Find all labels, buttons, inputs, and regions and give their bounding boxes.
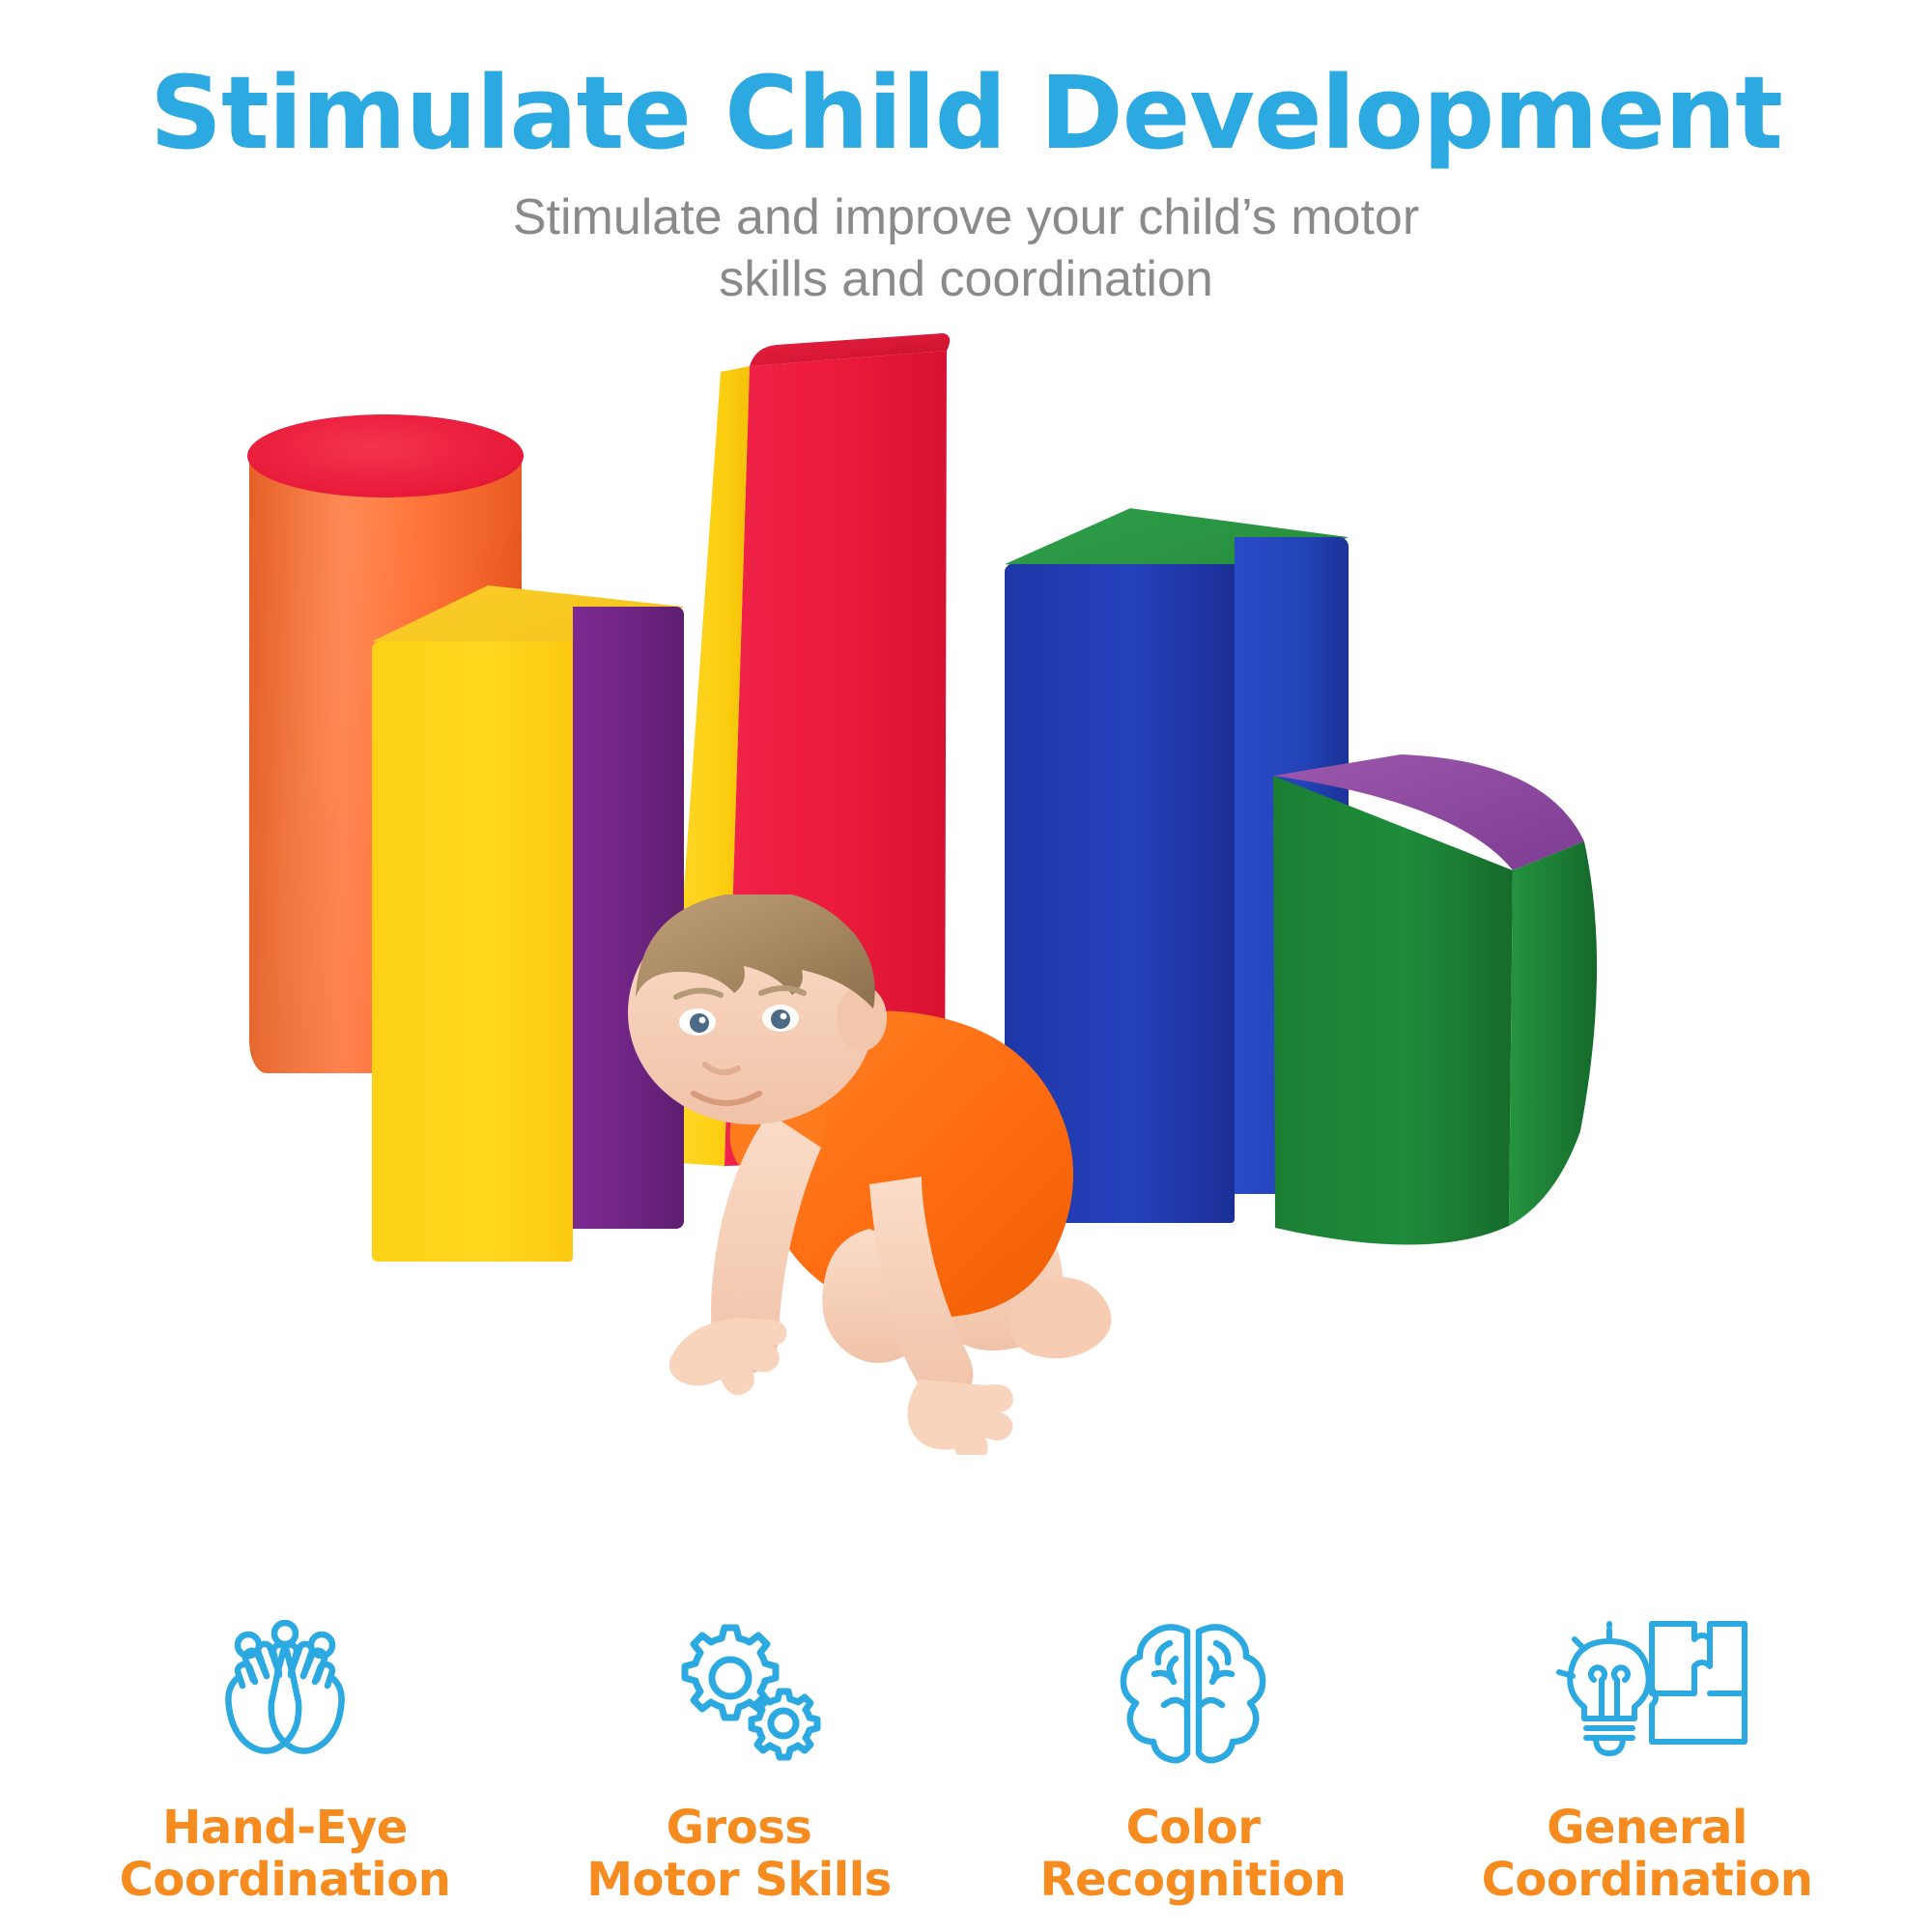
feature-item-hand-eye: Hand-Eye Coordination [58, 1620, 512, 1907]
clapping-hands-with-balls-icon [193, 1620, 377, 1765]
feature-label-general-coordination: General Coordination [1482, 1802, 1813, 1907]
feature-label-line-1: Gross [586, 1802, 891, 1855]
feature-label-line-1: General [1482, 1802, 1813, 1855]
subtitle-line-2: skills and coordination [396, 249, 1536, 310]
header: Stimulate Child Development Stimulate an… [0, 0, 1932, 310]
feature-list: Hand-Eye Coordination [0, 1620, 1932, 1907]
brain-icon [1116, 1620, 1270, 1765]
lightbulb-puzzle-icon [1546, 1620, 1748, 1765]
feature-label-gross-motor: Gross Motor Skills [586, 1802, 891, 1907]
feature-item-gross-motor: Gross Motor Skills [512, 1620, 966, 1907]
feature-label-line-2: Coordination [120, 1854, 451, 1907]
page-title: Stimulate Child Development [0, 60, 1932, 166]
crawling-baby-photo [580, 895, 1198, 1455]
page-subtitle: Stimulate and improve your child’s motor… [396, 187, 1536, 310]
feature-label-hand-eye: Hand-Eye Coordination [120, 1802, 451, 1907]
gears-icon [647, 1620, 831, 1765]
feature-label-line-2: Motor Skills [586, 1854, 891, 1907]
product-feature-banner: Stimulate Child Development Stimulate an… [0, 0, 1932, 1932]
yellow-block-front [372, 641, 573, 1262]
feature-label-line-2: Recognition [1040, 1854, 1347, 1907]
product-photo: Hand-Eye Coordination [0, 320, 1932, 1932]
feature-label-line-1: Color [1040, 1802, 1347, 1855]
subtitle-line-1: Stimulate and improve your child’s motor [396, 187, 1536, 248]
feature-item-color-recognition: Color Recognition [966, 1620, 1420, 1907]
feature-item-general-coordination: General Coordination [1420, 1620, 1874, 1907]
feature-label-line-2: Coordination [1482, 1854, 1813, 1907]
cylinder-red-top [247, 414, 524, 497]
feature-label-line-1: Hand-Eye [120, 1802, 451, 1855]
feature-label-color-recognition: Color Recognition [1040, 1802, 1347, 1907]
foam-block-set [0, 320, 1932, 1286]
foam-shape-quarter-round [1256, 725, 1642, 1305]
